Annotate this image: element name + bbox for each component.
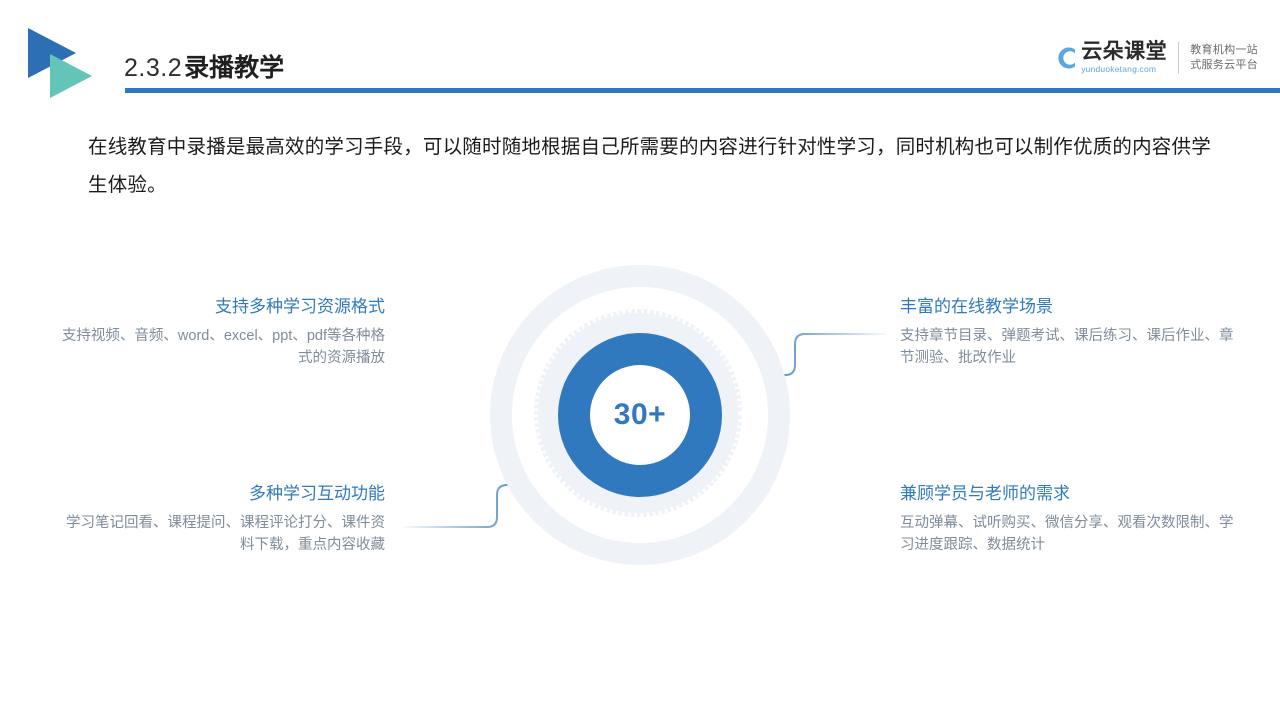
callout-top-right: 丰富的在线教学场景 支持章节目录、弹题考试、课后练习、课后作业、章节测验、批改作… [900,295,1240,369]
brand-tagline-line1: 教育机构一站 [1190,43,1258,58]
brand-divider [1178,42,1179,74]
callout-top-left: 支持多种学习资源格式 支持视频、音频、word、excel、ppt、pdf等各种… [60,295,385,369]
diagram-area: 30+ 支持多种学习资源格式 支持视频、音频、word、excel、ppt、pd… [0,250,1280,600]
brand-name-block: 云朵课堂 yunduoketang.com [1081,41,1167,75]
callout-top-right-title: 丰富的在线教学场景 [900,295,1240,319]
callout-top-left-body: 支持视频、音频、word、excel、ppt、pdf等各种格式的资源播放 [60,325,385,369]
center-value-circle: 30+ [590,365,690,465]
callout-bottom-right-title: 兼顾学员与老师的需求 [900,482,1240,506]
center-value-text: 30+ [614,400,666,430]
play-triangle-logo-icon [28,28,104,100]
brand-tagline-line2: 式服务云平台 [1190,58,1258,73]
brand-url: yunduoketang.com [1081,64,1167,75]
callout-bottom-left-title: 多种学习互动功能 [60,482,385,506]
slide-header: 2.3.2录播教学 云朵课堂 yunduoketang.com 教育机构一站 式… [0,0,1280,100]
triangle-secondary-icon [50,54,92,98]
intro-paragraph: 在线教育中录播是最高效的学习手段，可以随时随地根据自己所需要的内容进行针对性学习… [88,128,1218,204]
page-title: 2.3.2录播教学 [124,48,284,84]
section-title: 录播教学 [184,54,284,82]
brand-name-cn: 云朵课堂 [1081,41,1167,63]
section-number: 2.3.2 [124,54,182,82]
callout-bottom-left-body: 学习笔记回看、课程提问、课程评论打分、课件资料下载，重点内容收藏 [60,512,385,556]
brand-logo: 云朵课堂 yunduoketang.com 教育机构一站 式服务云平台 [1049,35,1258,81]
callout-bottom-left: 多种学习互动功能 学习笔记回看、课程提问、课程评论打分、课件资料下载，重点内容收… [60,482,385,556]
callout-bottom-right: 兼顾学员与老师的需求 互动弹幕、试听购买、微信分享、观看次数限制、学习进度跟踪、… [900,482,1240,556]
callout-top-left-title: 支持多种学习资源格式 [60,295,385,319]
cloud-icon [1049,41,1083,75]
brand-tagline: 教育机构一站 式服务云平台 [1190,43,1258,73]
title-underline-rule [125,88,1280,93]
callout-top-right-body: 支持章节目录、弹题考试、课后练习、课后作业、章节测验、批改作业 [900,325,1240,369]
callout-bottom-right-body: 互动弹幕、试听购买、微信分享、观看次数限制、学习进度跟踪、数据统计 [900,512,1240,556]
center-rings: 30+ [490,265,790,565]
